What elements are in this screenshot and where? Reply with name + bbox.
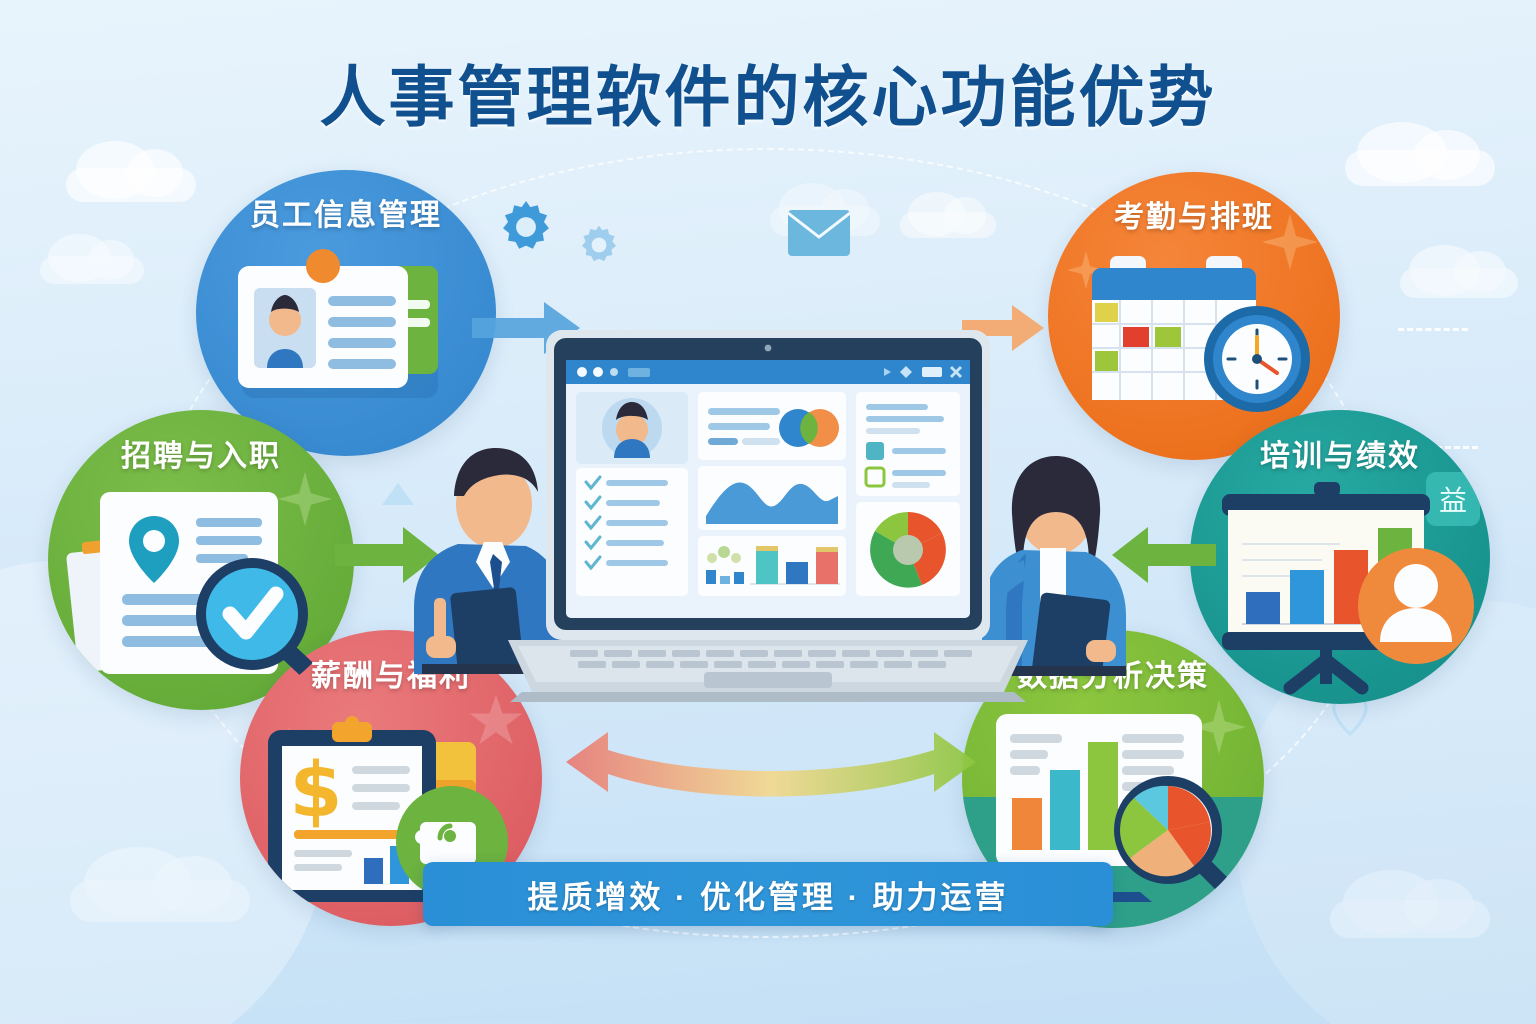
- cloud-icon: [66, 168, 196, 202]
- feature-label-employee-info: 员工信息管理: [196, 190, 496, 234]
- arrow-bottom-bidirectional: [556, 726, 986, 826]
- svg-text:益: 益: [1439, 484, 1467, 517]
- tagline-text: 提质增效 · 优化管理 · 助力运营: [527, 872, 1008, 917]
- laptop-device[interactable]: [508, 330, 1028, 714]
- infographic-canvas: 人事管理软件的核心功能优势 员工信息管理: [0, 0, 1536, 1024]
- dashed-line-left: [1398, 328, 1468, 331]
- cloud-icon: [1345, 150, 1495, 186]
- feature-label-recruiting-onboarding: 招聘与入职: [48, 431, 354, 475]
- page-title: 人事管理软件的核心功能优势: [0, 44, 1536, 140]
- gear-small-icon: [576, 222, 622, 268]
- cloud-icon: [1400, 268, 1518, 298]
- cloud-icon: [1330, 900, 1490, 938]
- cloud-icon: [40, 256, 144, 284]
- envelope-icon: [788, 210, 850, 256]
- feature-label-training-performance: 培训与绩效: [1190, 431, 1490, 475]
- tagline-banner: 提质增效 · 优化管理 · 助力运营: [423, 862, 1113, 926]
- feature-label-attendance-shift: 考勤与排班: [1048, 192, 1340, 236]
- svg-text:$: $: [290, 745, 343, 834]
- cloud-icon: [70, 880, 250, 922]
- gear-large-icon: [495, 196, 557, 258]
